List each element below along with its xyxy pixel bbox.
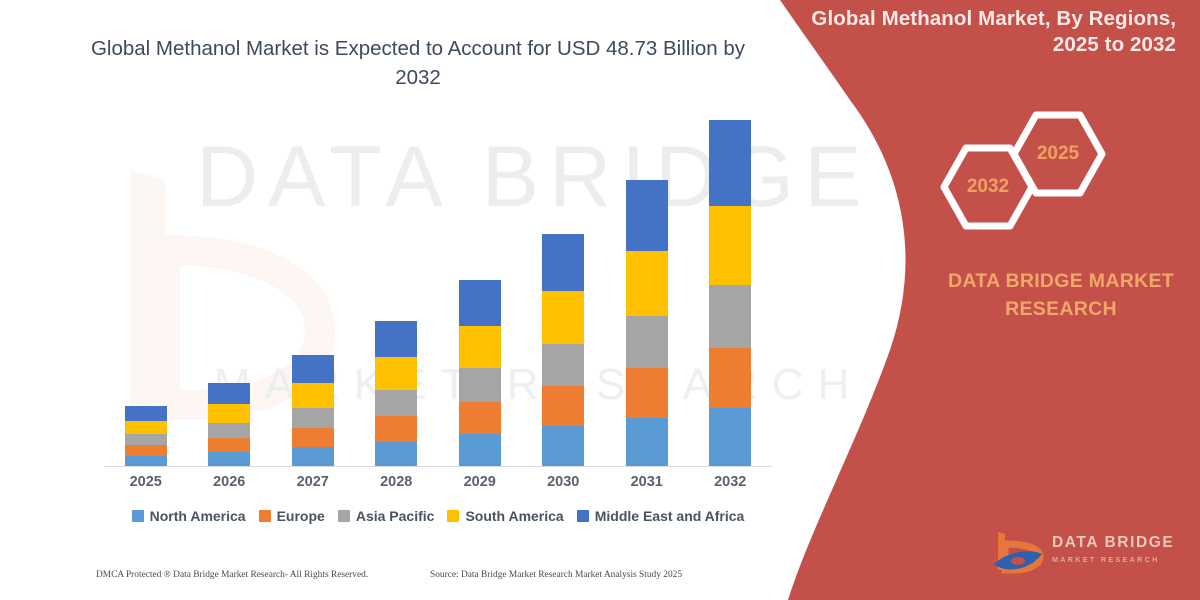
x-axis-labels: 20252026202720282029203020312032 [104,474,772,490]
chart-infographic: DATA BRIDGE MARKET RESEARCH Global Metha… [0,0,1200,600]
legend-item: Asia Pacific [338,508,435,524]
bar-segment [208,452,250,466]
bar-column-2025 [104,120,187,466]
legend-item: South America [447,508,563,524]
bar-segment [208,383,250,404]
stacked-bar [542,234,584,466]
x-axis-tick-2026: 2026 [188,474,271,490]
bar-segment [208,438,250,452]
logo-text-line1: DATA BRIDGE [1052,534,1174,552]
bar-segment [459,280,501,326]
hexagon-label-2032: 2032 [967,176,1009,198]
data-bridge-b-swoosh-logo-icon [990,530,1046,576]
bar-segment [459,368,501,402]
stacked-bar [208,383,250,466]
bar-segment [292,447,334,466]
stacked-bar [375,321,417,466]
bar-column-2031 [605,120,688,466]
x-axis-tick-2027: 2027 [271,474,354,490]
bar-segment [125,421,167,435]
bar-segment [125,406,167,421]
bar-segment [542,344,584,386]
stacked-bar [459,280,501,466]
bar-segment [709,285,751,348]
legend-item: Middle East and Africa [577,508,745,524]
bar-segment [459,326,501,368]
bar-column-2030 [522,120,605,466]
x-axis-tick-2032: 2032 [689,474,772,490]
bar-segment [292,428,334,447]
legend-swatch-icon [577,510,589,522]
bar-segment [292,355,334,382]
bar-segment [709,206,751,284]
bar-segment [626,251,668,316]
x-axis-line [104,466,772,467]
bar-segment [542,386,584,426]
stacked-bar-chart [104,120,772,466]
bar-segment [542,234,584,292]
hexagon-badge-2025: 2025 [1010,110,1106,198]
legend-label: Asia Pacific [356,508,435,524]
bar-segment [626,180,668,251]
stacked-bar [292,355,334,466]
legend-item: North America [132,508,246,524]
x-axis-tick-2031: 2031 [605,474,688,490]
bar-segment [125,456,167,466]
bar-segment [709,348,751,408]
bar-segment [375,390,417,417]
legend-label: Middle East and Africa [595,508,745,524]
bar-segment [459,402,501,434]
footer-copyright: DMCA Protected ® Data Bridge Market Rese… [96,570,368,580]
chart-legend: North AmericaEuropeAsia PacificSouth Ame… [104,508,772,524]
x-axis-tick-2025: 2025 [104,474,187,490]
legend-label: Europe [277,508,325,524]
bar-segment [375,321,417,357]
bar-segment [626,368,668,418]
bar-column-2029 [438,120,521,466]
stacked-bar [125,406,167,466]
bar-column-2028 [355,120,438,466]
hexagon-label-2025: 2025 [1037,143,1079,165]
chart-title: Global Methanol Market is Expected to Ac… [86,34,750,92]
bar-segment [292,383,334,408]
legend-item: Europe [259,508,325,524]
stacked-bar [709,120,751,466]
stacked-bar [626,180,668,466]
bar-segment [375,416,417,441]
x-axis-tick-2028: 2028 [355,474,438,490]
logo: DATA BRIDGE MARKET RESEARCH [990,528,1190,580]
bar-segment [375,357,417,389]
x-axis-tick-2030: 2030 [522,474,605,490]
legend-swatch-icon [259,510,271,522]
bar-segment [542,426,584,466]
logo-text-line2: MARKET RESEARCH [1052,555,1174,564]
bar-segment [208,404,250,423]
bar-column-2032 [689,120,772,466]
bar-segment [125,434,167,445]
bar-segment [292,408,334,428]
footer-source: Source: Data Bridge Market Research Mark… [430,570,682,580]
x-axis-tick-2029: 2029 [438,474,521,490]
legend-swatch-icon [338,510,350,522]
bar-segment [709,120,751,206]
bar-segment [125,445,167,456]
bar-segment [208,423,250,438]
legend-label: South America [465,508,563,524]
brand-name: DATA BRIDGE MARKET RESEARCH [930,268,1192,323]
bar-column-2027 [271,120,354,466]
legend-label: North America [150,508,246,524]
panel-title: Global Methanol Market, By Regions, 2025… [806,6,1176,58]
bar-column-2026 [188,120,271,466]
bar-segment [459,434,501,466]
legend-swatch-icon [132,510,144,522]
bar-segment [626,316,668,369]
legend-swatch-icon [447,510,459,522]
bar-segment [709,408,751,466]
bar-segment [375,442,417,466]
bar-segment [626,418,668,466]
bar-segment [542,291,584,344]
